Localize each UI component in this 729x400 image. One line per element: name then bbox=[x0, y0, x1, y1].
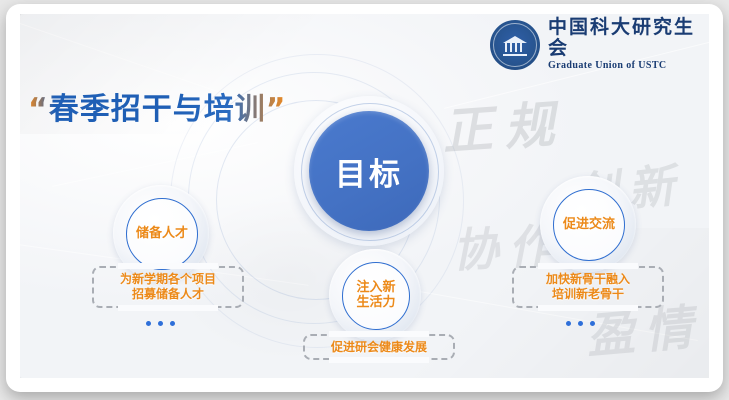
caption-right-line2: 培训新老骨干 bbox=[546, 287, 630, 302]
seal-building-glyph bbox=[503, 36, 527, 54]
node-left[interactable]: 储备人才 bbox=[126, 198, 198, 270]
node-left-label: 储备人才 bbox=[136, 227, 188, 242]
logo-name-cn: 中国科大研究生会 bbox=[548, 17, 712, 59]
caption-left-text: 为新学期各个项目 招募储备人才 bbox=[120, 272, 216, 302]
logo-text: 中国科大研究生会 Graduate Union of USTC bbox=[548, 17, 712, 74]
caption-right-line1: 加快新骨干融入 bbox=[546, 272, 630, 287]
logo-name-en: Graduate Union of USTC bbox=[548, 58, 712, 73]
node-bottom-label: 注入新 生活力 bbox=[356, 281, 395, 311]
center-node-label: 目标 bbox=[335, 149, 403, 194]
node-bottom-label-line1: 注入新 bbox=[356, 280, 395, 295]
caption-right-dots bbox=[566, 321, 595, 326]
caption-left: 为新学期各个项目 招募储备人才 bbox=[92, 266, 244, 308]
slide-stage: 正规 创新 协作 盈情 中国科大研究生会 Graduate Union of U… bbox=[0, 0, 729, 400]
page-title: “春季招干与培训” bbox=[28, 84, 286, 128]
node-bottom[interactable]: 注入新 生活力 bbox=[342, 262, 410, 330]
watermark-zhenggui: 正规 bbox=[440, 84, 569, 164]
organization-logo: 中国科大研究生会 Graduate Union of USTC bbox=[490, 18, 712, 72]
slide-card: 正规 创新 协作 盈情 中国科大研究生会 Graduate Union of U… bbox=[6, 4, 723, 392]
caption-bottom-text: 促进研会健康发展 bbox=[331, 340, 427, 355]
caption-left-line2: 招募储备人才 bbox=[120, 287, 216, 302]
center-node[interactable]: 目标 bbox=[309, 111, 429, 231]
node-right[interactable]: 促进交流 bbox=[553, 189, 625, 261]
university-seal-icon bbox=[490, 20, 540, 70]
caption-right-text: 加快新骨干融入 培训新老骨干 bbox=[546, 272, 630, 302]
caption-left-dots bbox=[146, 321, 175, 326]
caption-bottom: 促进研会健康发展 bbox=[303, 334, 455, 360]
caption-left-line1: 为新学期各个项目 bbox=[120, 272, 216, 287]
node-right-label: 促进交流 bbox=[563, 218, 615, 233]
node-bottom-label-line2: 生活力 bbox=[356, 295, 395, 310]
caption-right: 加快新骨干融入 培训新老骨干 bbox=[512, 266, 664, 308]
